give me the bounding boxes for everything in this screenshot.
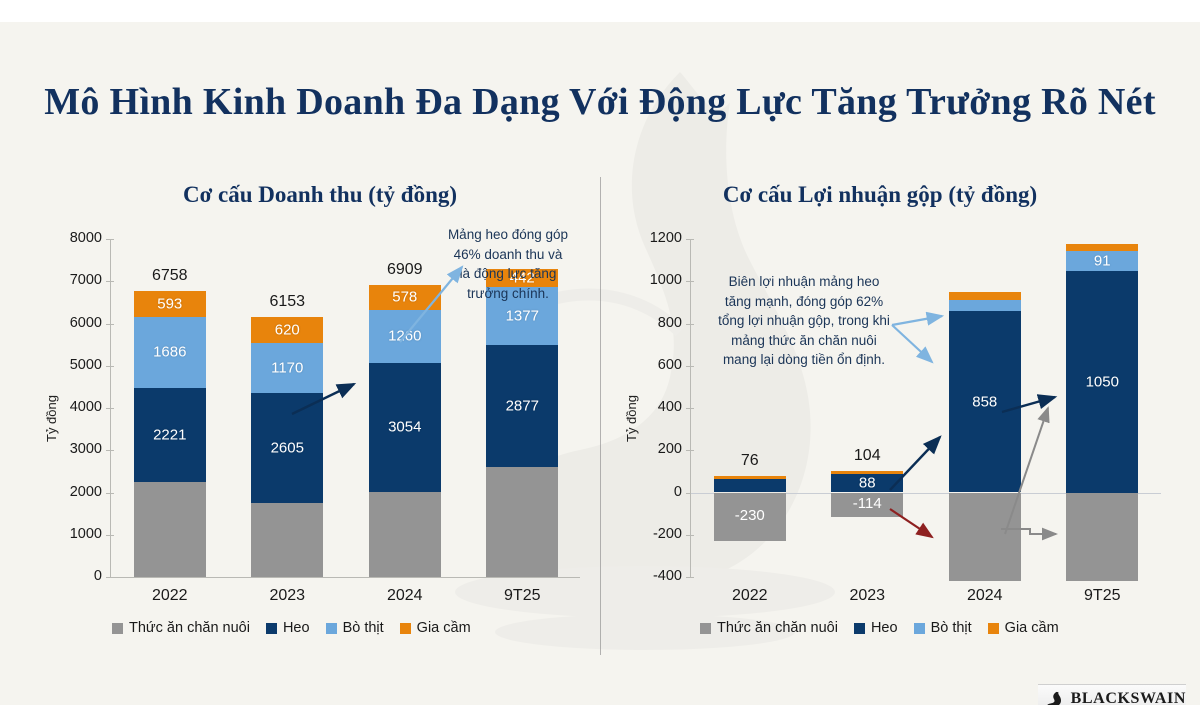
x-tick-label-2024: 2024 bbox=[924, 587, 1046, 605]
bar-9T25[interactable]: 105091 bbox=[1066, 239, 1138, 577]
segment-value-label: 1377 bbox=[486, 308, 558, 325]
bar-segment-feed-9T25[interactable] bbox=[486, 467, 558, 577]
chart-background: Mô Hình Kinh Doanh Đa Dạng Với Động Lực … bbox=[0, 22, 1200, 705]
chart-title-gross-profit: Cơ cấu Lợi nhuận gộp (tỷ đồng) bbox=[620, 182, 1140, 208]
y-tick-label: -200 bbox=[610, 526, 682, 542]
legend-label-poultry: Gia cầm bbox=[417, 620, 471, 636]
bar-segment-poultry-9T25[interactable] bbox=[1066, 244, 1138, 251]
legend-item-pork[interactable]: Heo bbox=[266, 620, 310, 636]
legend-item-poultry[interactable]: Gia cầm bbox=[988, 620, 1059, 636]
bar-segment-poultry-2023[interactable]: 620 bbox=[251, 317, 323, 343]
segment-value-label: 858 bbox=[949, 393, 1021, 410]
y-tick-label: 7000 bbox=[30, 272, 102, 288]
legend-item-poultry[interactable]: Gia cầm bbox=[400, 620, 471, 636]
y-tick-label: 6000 bbox=[30, 315, 102, 331]
page-title: Mô Hình Kinh Doanh Đa Dạng Với Động Lực … bbox=[0, 80, 1200, 124]
legend-label-feed: Thức ăn chăn nuôi bbox=[717, 620, 838, 636]
bar-segment-pork-2022[interactable] bbox=[714, 479, 786, 492]
bar-segment-pork-2024[interactable]: 858 bbox=[949, 311, 1021, 492]
y-tick-label: 0 bbox=[30, 568, 102, 584]
negative-value-label-2022: -230 bbox=[714, 507, 786, 524]
legend-swatch-feed bbox=[112, 623, 123, 634]
bar-segment-poultry-2024[interactable] bbox=[949, 292, 1021, 300]
y-tick-mark bbox=[686, 577, 694, 578]
y-tick-label: 0 bbox=[610, 484, 682, 500]
swan-icon bbox=[1044, 688, 1065, 705]
bar-segment-poultry-2022[interactable] bbox=[714, 476, 786, 479]
chart-title-revenue: Cơ cấu Doanh thu (tỷ đồng) bbox=[60, 182, 580, 208]
legend-item-feed[interactable]: Thức ăn chăn nuôi bbox=[700, 620, 838, 636]
legend-label-beef: Bò thịt bbox=[343, 620, 384, 636]
y-tick-label: 1000 bbox=[610, 272, 682, 288]
segment-value-label: 2605 bbox=[251, 439, 323, 456]
y-tick-label: 1200 bbox=[610, 230, 682, 246]
bar-segment-pork-2022[interactable]: 2221 bbox=[134, 388, 206, 482]
legend-label-beef: Bò thịt bbox=[931, 620, 972, 636]
legend-item-feed[interactable]: Thức ăn chăn nuôi bbox=[112, 620, 250, 636]
y-tick-label: 4000 bbox=[30, 399, 102, 415]
x-tick-label-2023: 2023 bbox=[806, 587, 928, 605]
x-tick-label-2022: 2022 bbox=[109, 587, 231, 605]
bar-segment-beef-2024[interactable]: 1260 bbox=[369, 310, 441, 363]
legend-item-pork[interactable]: Heo bbox=[854, 620, 898, 636]
segment-value-label: 3054 bbox=[369, 419, 441, 436]
legend-swatch-pork bbox=[266, 623, 277, 634]
bar-segment-feed-2022[interactable] bbox=[134, 482, 206, 577]
legend-label-pork: Heo bbox=[871, 620, 898, 636]
legend-label-poultry: Gia cầm bbox=[1005, 620, 1059, 636]
x-axis-line-revenue bbox=[110, 577, 580, 578]
segment-value-label: 88 bbox=[831, 475, 903, 492]
x-tick-label-9T25: 9T25 bbox=[1041, 587, 1163, 605]
y-tick-label: 2000 bbox=[30, 484, 102, 500]
x-tick-label-2022: 2022 bbox=[689, 587, 811, 605]
bar-segment-beef-2023[interactable]: 1170 bbox=[251, 343, 323, 392]
bar-segment-poultry-2022[interactable]: 593 bbox=[134, 291, 206, 316]
annotation-revenue: Mảng heo đóng góp 46% doanh thu và là độ… bbox=[418, 225, 598, 303]
bar-segment-feed-2024[interactable] bbox=[369, 492, 441, 577]
legend-label-feed: Thức ăn chăn nuôi bbox=[129, 620, 250, 636]
y-tick-label: 3000 bbox=[30, 441, 102, 457]
y-tick-label: 200 bbox=[610, 441, 682, 457]
legend-item-beef[interactable]: Bò thịt bbox=[326, 620, 384, 636]
segment-value-label: 1170 bbox=[251, 359, 323, 376]
legend-swatch-beef bbox=[326, 623, 337, 634]
legend-swatch-beef bbox=[914, 623, 925, 634]
bar-segment-pork-2023[interactable]: 88 bbox=[831, 474, 903, 493]
segment-value-label: 91 bbox=[1066, 253, 1138, 270]
panel-divider bbox=[600, 177, 601, 655]
x-tick-label-2024: 2024 bbox=[344, 587, 466, 605]
bar-2024[interactable]: 858 bbox=[949, 239, 1021, 577]
legend-gross-profit: Thức ăn chăn nuôiHeoBò thịtGia cầm bbox=[700, 620, 1059, 636]
bar-segment-feed-2023[interactable] bbox=[251, 503, 323, 577]
slide-canvas: Mô Hình Kinh Doanh Đa Dạng Với Động Lực … bbox=[0, 0, 1200, 727]
bar-segment-beef-2022[interactable]: 1686 bbox=[134, 317, 206, 388]
bar-segment-feed-2024[interactable] bbox=[949, 493, 1021, 582]
bar-segment-pork-2024[interactable]: 3054 bbox=[369, 363, 441, 492]
bar-2022[interactable]: 22211686593 bbox=[134, 239, 206, 577]
segment-value-label: 1050 bbox=[1066, 373, 1138, 390]
legend-item-beef[interactable]: Bò thịt bbox=[914, 620, 972, 636]
bar-segment-pork-9T25[interactable]: 2877 bbox=[486, 345, 558, 467]
bar-segment-pork-9T25[interactable]: 1050 bbox=[1066, 271, 1138, 493]
y-tick-label: 5000 bbox=[30, 357, 102, 373]
y-tick-label: 600 bbox=[610, 357, 682, 373]
bar-segment-beef-9T25[interactable]: 91 bbox=[1066, 251, 1138, 270]
segment-value-label: 593 bbox=[134, 295, 206, 312]
bar-total-label-2022: 76 bbox=[694, 452, 806, 470]
bar-segment-poultry-2023[interactable] bbox=[831, 471, 903, 474]
legend-swatch-poultry bbox=[400, 623, 411, 634]
bar-total-label-2023: 104 bbox=[811, 447, 923, 465]
y-tick-label: 800 bbox=[610, 315, 682, 331]
segment-value-label: 620 bbox=[251, 322, 323, 339]
x-tick-label-9T25: 9T25 bbox=[461, 587, 583, 605]
bar-2023[interactable]: 26051170620 bbox=[251, 239, 323, 577]
brand-logo: BLACKSWAIN bbox=[1038, 684, 1186, 705]
legend-revenue: Thức ăn chăn nuôiHeoBò thịtGia cầm bbox=[112, 620, 471, 636]
annotation-gross-profit: Biên lợi nhuận mảng heo tăng mạnh, đóng … bbox=[688, 272, 920, 370]
y-tick-label: 8000 bbox=[30, 230, 102, 246]
segment-value-label: 2221 bbox=[134, 426, 206, 443]
legend-swatch-feed bbox=[700, 623, 711, 634]
bar-total-label-2022: 6758 bbox=[114, 267, 226, 285]
logo-text: BLACKSWAIN bbox=[1071, 690, 1186, 705]
bar-segment-beef-2024[interactable] bbox=[949, 300, 1021, 311]
segment-value-label: 1260 bbox=[369, 328, 441, 345]
y-tick-label: -400 bbox=[610, 568, 682, 584]
negative-value-label-2023: -114 bbox=[831, 495, 903, 512]
segment-value-label: 1686 bbox=[134, 344, 206, 361]
legend-label-pork: Heo bbox=[283, 620, 310, 636]
legend-swatch-pork bbox=[854, 623, 865, 634]
legend-swatch-poultry bbox=[988, 623, 999, 634]
x-tick-label-2023: 2023 bbox=[226, 587, 348, 605]
bar-segment-feed-9T25[interactable] bbox=[1066, 493, 1138, 582]
y-tick-label: 400 bbox=[610, 399, 682, 415]
y-tick-label: 1000 bbox=[30, 526, 102, 542]
bar-total-label-2023: 6153 bbox=[231, 293, 343, 311]
segment-value-label: 2877 bbox=[486, 398, 558, 415]
bar-segment-pork-2023[interactable]: 2605 bbox=[251, 393, 323, 503]
